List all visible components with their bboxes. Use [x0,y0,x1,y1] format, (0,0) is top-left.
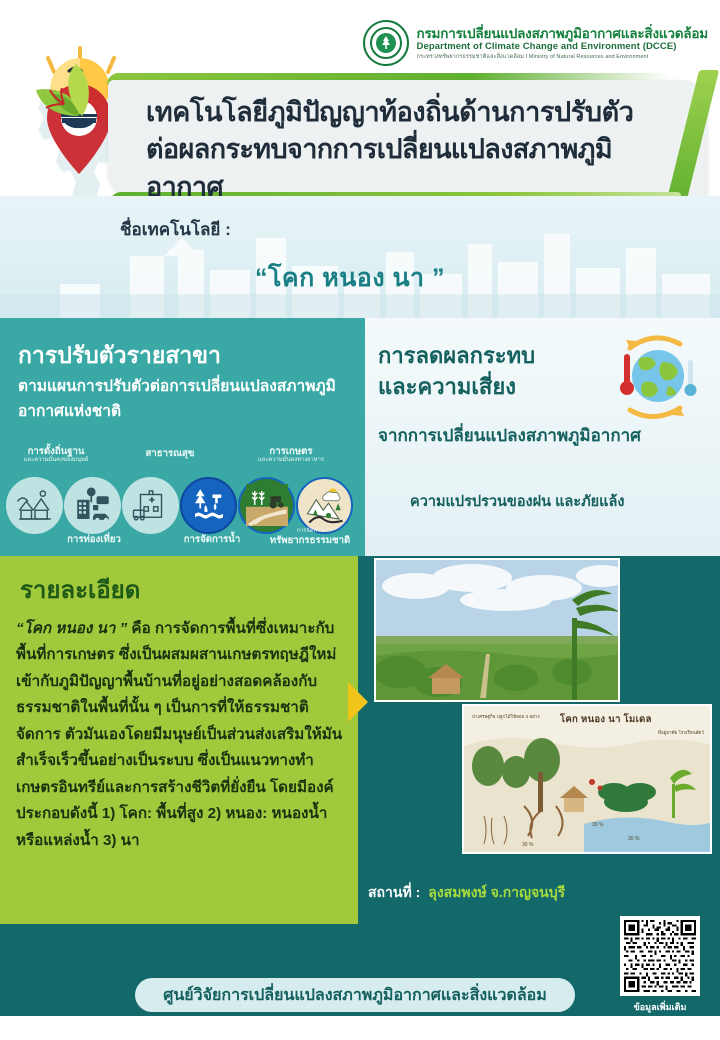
poster-header: กรมการเปลี่ยนแปลงสภาพภูมิอากาศและสิ่งแวด… [0,0,720,208]
diagram-note-left: ป่าเศรษฐกิจ ปลูกไม้ใช้สอย 3 อย่าง [472,714,540,721]
research-center-name: ศูนย์วิจัยการเปลี่ยนแปลงสภาพภูมิอากาศและ… [163,983,547,1008]
hospital-glyph-icon [130,484,172,526]
dcce-seal-icon [363,20,409,66]
diagram-note-right: ที่อยู่อาศัย โรงเรือนสัตว์ [658,730,704,737]
adaptation-panel-subtitle: ตามแผนการปรับตัวต่อการเปลี่ยนแปลงสภาพภูม… [18,374,348,424]
qr-code-graphic [624,920,696,992]
thermometer-cold-icon [685,360,697,396]
mitigation-panel-note: ความแปรปรวนของฝน และภัยแล้ง [410,490,624,513]
poster-footer: ศูนย์วิจัยการเปลี่ยนแปลงสภาพภูมิอากาศและ… [0,924,720,1016]
diagram-title: โคก หนอง นา โมเดล [560,712,652,727]
thermometer-hot-icon [620,354,634,395]
technology-label: ชื่อเทคโนโลยี : [120,216,231,243]
farm-photo-graphic [376,560,620,702]
qr-code-icon[interactable] [620,916,700,996]
natural-resources-icon[interactable] [296,477,353,534]
farm-photo [374,558,620,702]
poster-title-line1: เทคโนโลยีภูมิปัญญาท้องถิ่นด้านการปรับตัว [146,94,686,131]
mitigation-title-line1: การลดผลกระทบ [378,340,593,371]
media-column: 30 % 30 % 30 % โคก หนอง นา โมเดล ป่าเศรษ… [358,556,720,924]
diagram-graphic: 30 % 30 % 30 % [464,706,712,854]
qr-block[interactable]: ข้อมูลเพิ่มเติม [616,916,704,1022]
bottom-strip [0,1016,720,1040]
qr-caption: ข้อมูลเพิ่มเติม [616,1000,704,1014]
sector-label-settlement: การตั้งถิ่นฐาน และความมั่นคงของมนุษย์ [2,446,110,464]
agriculture-icon[interactable] [238,477,295,534]
research-center-pill: ศูนย์วิจัยการเปลี่ยนแปลงสภาพภูมิอากาศและ… [135,978,575,1012]
mitigation-panel: การลดผลกระทบ และความเสี่ยง จากการเปลี่ยน… [358,318,720,556]
sector-labels-bottom-row: การท่องเที่ยว การจัดการน้ำ การจัดการ ทรั… [0,534,358,556]
details-quote: “โคก หนอง นา ” [16,620,127,637]
svg-text:30 %: 30 % [628,836,640,842]
khok-nong-na-model-diagram: 30 % 30 % 30 % โคก หนอง นา โมเดล ป่าเศรษ… [462,704,712,854]
details-arrow-icon [348,682,368,722]
details-body: “โคก หนอง นา ” คือ การจัดการพื้นที่ซึ่งเ… [16,616,346,854]
natural-resources-glyph-icon [304,484,346,526]
globe-thermometer-icon [600,332,708,424]
location-label: สถานที่ : [368,882,420,904]
agriculture-glyph-icon [246,484,288,526]
org-name-en: Department of Climate Change and Environ… [417,42,708,53]
mitigation-panel-subtitle: จากการเปลี่ยนแปลงสภาพภูมิอากาศ [378,422,708,449]
poster-title: เทคโนโลยีภูมิปัญญาท้องถิ่นด้านการปรับตัว… [146,94,686,206]
sector-label-natural-resources: การจัดการ ทรัพยากรธรรมชาติ [262,528,358,546]
location-value: ลุงสมพงษ์ จ.กาญจนบุรี [428,882,565,904]
water-glyph-icon [188,484,230,526]
ministry-line: กระทรวงทรัพยากรธรรมชาติและสิ่งแวดล้อม I … [417,54,708,60]
sector-label-water-management: การจัดการน้ำ [168,534,256,545]
water-management-icon[interactable] [180,477,237,534]
sector-label-agriculture: การเกษตร และความมั่นคงทางอาหาร [228,446,354,464]
tree-glyph-icon [379,35,393,51]
technology-name-band: ชื่อเทคโนโลยี : “โคก หนอง นา ” [0,196,720,318]
tourism-glyph-icon [72,484,114,526]
sector-labels-top-row: การตั้งถิ่นฐาน และความมั่นคงของมนุษย์ สา… [0,446,358,478]
adaptation-panel-title: การปรับตัวรายสาขา [18,338,221,374]
details-title: รายละเอียด [20,570,140,609]
dcce-text-block: กรมการเปลี่ยนแปลงสภาพภูมิอากาศและสิ่งแวด… [417,26,708,61]
details-text: คือ การจัดการพื้นที่ซึ่งเหมาะกับพื้นที่ก… [16,620,342,849]
settlement-glyph-icon [14,484,56,526]
mitigation-title-line2: และความเสี่ยง [378,371,593,402]
tourism-icon[interactable] [64,477,121,534]
sector-icon-row [6,476,358,534]
org-name-th: กรมการเปลี่ยนแปลงสภาพภูมิอากาศและสิ่งแวด… [417,26,708,41]
adaptation-sectors-panel: การปรับตัวรายสาขา ตามแผนการปรับตัวต่อการ… [0,318,358,556]
mitigation-panel-title: การลดผลกระทบ และความเสี่ยง [378,340,593,402]
settlement-icon[interactable] [6,477,63,534]
sector-label-tourism: การท่องเที่ยว [48,534,140,545]
poster-root: กรมการเปลี่ยนแปลงสภาพภูมิอากาศและสิ่งแวด… [0,0,720,1040]
panel-edge-accent [358,318,365,556]
technology-value: “โคก หนอง นา ” [255,258,445,298]
title-ribbon: เทคโนโลยีภูมิปัญญาท้องถิ่นด้านการปรับตัว… [108,80,708,198]
poster-title-line2: ต่อผลกระทบจากการเปลี่ยนแปลงสภาพภูมิอากาศ [146,131,686,206]
svg-text:30 %: 30 % [592,822,604,828]
public-health-icon[interactable] [122,477,179,534]
dcce-org-logo: กรมการเปลี่ยนแปลงสภาพภูมิอากาศและสิ่งแวด… [363,20,708,66]
location-row: สถานที่ : ลุงสมพงษ์ จ.กาญจนบุรี [368,882,565,904]
svg-text:30 %: 30 % [522,842,534,848]
details-panel: รายละเอียด “โคก หนอง นา ” คือ การจัดการพ… [0,556,358,924]
sector-label-public-health: สาธารณสุข [118,448,222,459]
